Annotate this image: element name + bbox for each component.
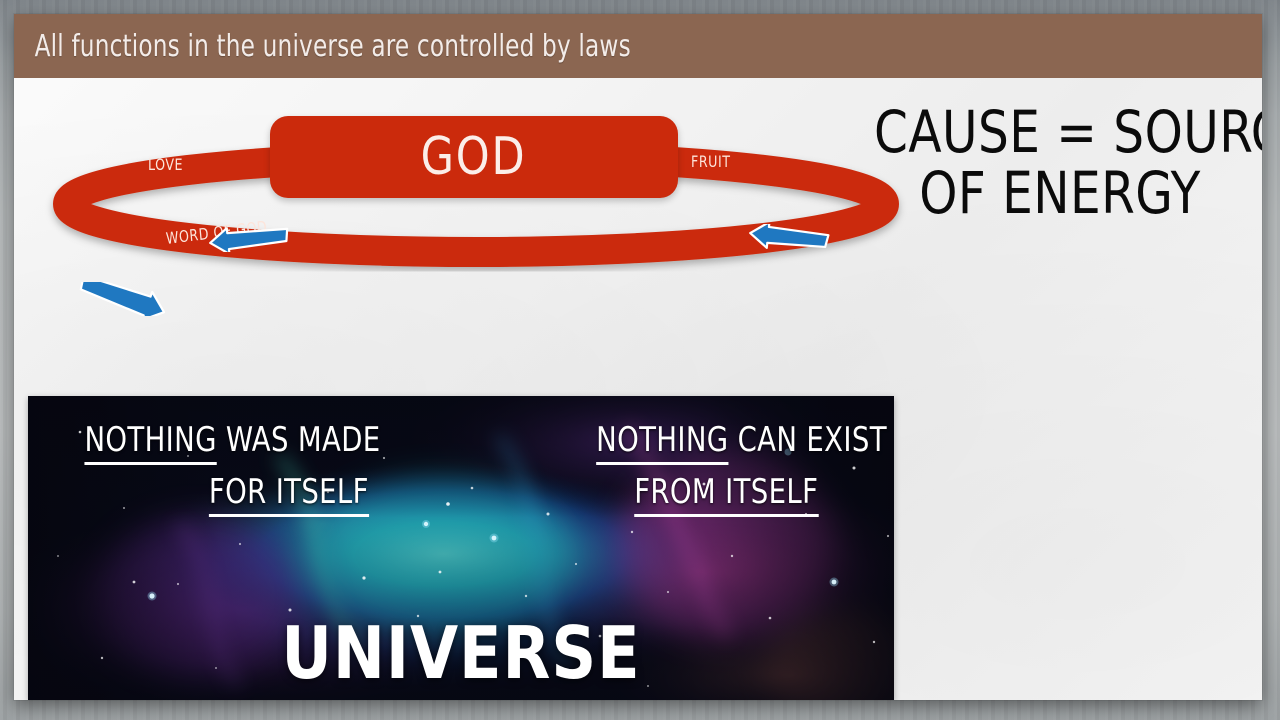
universe-caption-right-line-1: NOTHING CAN EXIST: [596, 420, 887, 465]
universe-caption-right-underline: NOTHING: [596, 420, 728, 465]
slide-title: All functions in the universe are contro…: [14, 29, 631, 64]
slide-header-bar: All functions in the universe are contro…: [14, 14, 1262, 78]
god-node: GOD: [270, 116, 678, 198]
universe-title: UNIVERSE: [45, 611, 876, 695]
universe-caption-left-line-1: NOTHING WAS MADE: [84, 420, 380, 465]
cycle-diagram: GOD LOVE FRUIT WORD OF GOD: [36, 94, 916, 274]
cause-headline-line-1: CAUSE = SOURCE: [874, 102, 1246, 163]
universe-caption-left-line-2: FOR ITSELF: [209, 472, 369, 517]
universe-caption-right-line-2: FROM ITSELF: [634, 472, 818, 517]
cycle-label-fruit: FRUIT: [691, 152, 730, 171]
word-of-god-arrow-icon: [74, 282, 170, 321]
fruit-arrow-icon: [746, 224, 830, 255]
universe-caption-left-line-2-text: FOR ITSELF: [209, 472, 369, 517]
universe-caption-left-underline: NOTHING: [84, 420, 216, 465]
universe-image: NOTHING WAS MADE FOR ITSELF NOTHING CAN …: [28, 396, 894, 700]
god-label: GOD: [421, 127, 527, 187]
slide: All functions in the universe are contro…: [14, 14, 1262, 700]
love-arrow-icon: [206, 226, 290, 257]
universe-caption-right-line-2-text: FROM ITSELF: [634, 472, 818, 517]
cycle-label-love: LOVE: [148, 155, 183, 174]
cause-headline: CAUSE = SOURCE OF ENERGY: [860, 102, 1260, 225]
cause-headline-line-2: OF ENERGY: [874, 163, 1246, 224]
